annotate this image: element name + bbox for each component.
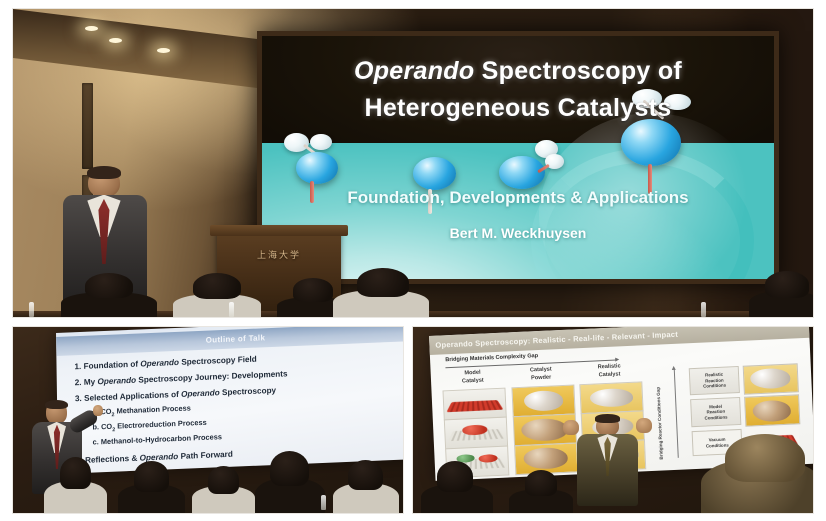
column-header-realistic-catalyst: Realistic Catalyst <box>579 363 640 380</box>
condition-image-realistic <box>742 363 798 395</box>
grid-cell-model-2 <box>444 417 508 449</box>
slide-title-line-2: Heterogeneous Catalysts <box>262 94 774 123</box>
audience-foreground <box>413 446 813 513</box>
column-header-line1: Catalyst <box>530 367 552 374</box>
outline-item-number: 1. <box>74 361 81 370</box>
audience-head-large <box>725 434 805 482</box>
audience-head <box>293 278 333 301</box>
column-header-line2: Catalyst <box>599 371 621 378</box>
speaker-hand-left <box>563 420 579 435</box>
molecule-atom-blue <box>621 119 680 166</box>
ceiling-spotlight <box>85 26 98 31</box>
outline-subitem-letter: c. <box>92 437 98 446</box>
outline-item-post: Spectroscopy <box>220 385 277 396</box>
photo-panel-top: Operando Spectroscopy of Heterogeneous C… <box>12 8 814 318</box>
outline-item-number: 2. <box>75 377 82 386</box>
audience-head <box>765 271 809 298</box>
complexity-slide-subheader: Bridging Materials Complexity Gap <box>445 353 538 363</box>
outline-item-emphasis: Operando <box>181 388 220 399</box>
slide-title-line-1: Operando Spectroscopy of <box>262 57 774 86</box>
speaker-hair <box>87 166 120 179</box>
powder-particle <box>752 400 791 423</box>
ceiling-spotlight <box>157 48 170 53</box>
realistic-catalyst-grains <box>750 368 791 390</box>
audience-foreground <box>13 450 403 513</box>
audience-head <box>193 273 241 300</box>
audience-head <box>437 461 473 492</box>
molecule-graphic <box>492 152 574 220</box>
water-bottle <box>229 302 234 317</box>
condition-box-model: Model Reaction Conditions <box>691 398 742 428</box>
audience-head <box>357 268 409 297</box>
column-header-model-catalyst: Model Catalyst <box>442 369 503 386</box>
molecule-atom-blue <box>413 157 456 190</box>
outline-subitem-text: CO <box>101 421 112 430</box>
speaker-hand-right <box>636 418 652 433</box>
wall-panel-slit <box>82 83 93 169</box>
water-bottle <box>29 302 34 317</box>
grid-cell-model-1 <box>443 388 507 420</box>
grid-cell-real-1 <box>580 382 644 414</box>
slide-subtitle: Foundation, Developments & Applications <box>262 188 774 208</box>
audience-head <box>348 460 383 490</box>
molecule-atom-blue <box>296 152 339 184</box>
audience-row <box>13 258 813 317</box>
water-bottle <box>701 302 706 317</box>
speaker-hair <box>595 414 619 422</box>
outline-subitem-text-after: Electroreduction Process <box>115 417 207 430</box>
photo-collage: Operando Spectroscopy of Heterogeneous C… <box>0 0 826 521</box>
audience-head <box>134 461 169 491</box>
photo-panel-bottom-left: Outline of Talk 1. Foundation of Operand… <box>12 326 404 514</box>
column-header-catalyst-powder: Catalyst Powder <box>510 366 571 383</box>
condition-line3: Conditions <box>705 415 728 421</box>
condition-box-realistic: Realistic Reaction Conditions <box>689 366 740 396</box>
powder-particle <box>523 390 563 412</box>
outline-subitem-text-after: Methanation Process <box>114 403 190 415</box>
audience-head <box>60 457 91 489</box>
slide-title-operando: Operando <box>354 57 474 85</box>
outline-item-pre: Foundation of <box>83 359 140 370</box>
audience-head <box>208 466 239 494</box>
outline-item-emphasis: Operando <box>140 357 179 368</box>
column-header-line2: Powder <box>531 374 551 381</box>
speaker-hair <box>45 400 67 409</box>
lectern-top <box>210 225 349 235</box>
column-header-line1: Model <box>464 370 480 377</box>
model-catalyst-plate <box>447 400 504 412</box>
condition-line3: Conditions <box>703 383 726 389</box>
audience-head <box>85 273 133 299</box>
water-bottle <box>321 495 326 510</box>
outline-item-emphasis: Operando <box>97 375 136 386</box>
outline-item-post: Spectroscopy Field <box>179 354 257 366</box>
audience-head <box>525 470 557 495</box>
outline-item-post: Spectroscopy Journey: Developments <box>136 369 288 384</box>
column-header-line2: Catalyst <box>462 377 484 384</box>
slide-title-rest: Spectroscopy of <box>474 57 682 85</box>
outline-item-pre: Selected Applications of <box>84 389 181 402</box>
condition-image-model <box>744 395 800 427</box>
column-header-line1: Realistic <box>598 364 621 371</box>
outline-item-pre: My <box>84 377 98 387</box>
audience-head <box>270 451 309 486</box>
grid-cell-powder-1 <box>511 385 575 417</box>
photo-panel-bottom-right: Operando Spectroscopy: Realistic - Real-… <box>412 326 814 514</box>
molecule-atom-white <box>310 134 331 150</box>
realistic-catalyst-grains <box>589 388 634 409</box>
powder-particle <box>521 418 568 442</box>
molecule-atom-white <box>284 133 309 152</box>
